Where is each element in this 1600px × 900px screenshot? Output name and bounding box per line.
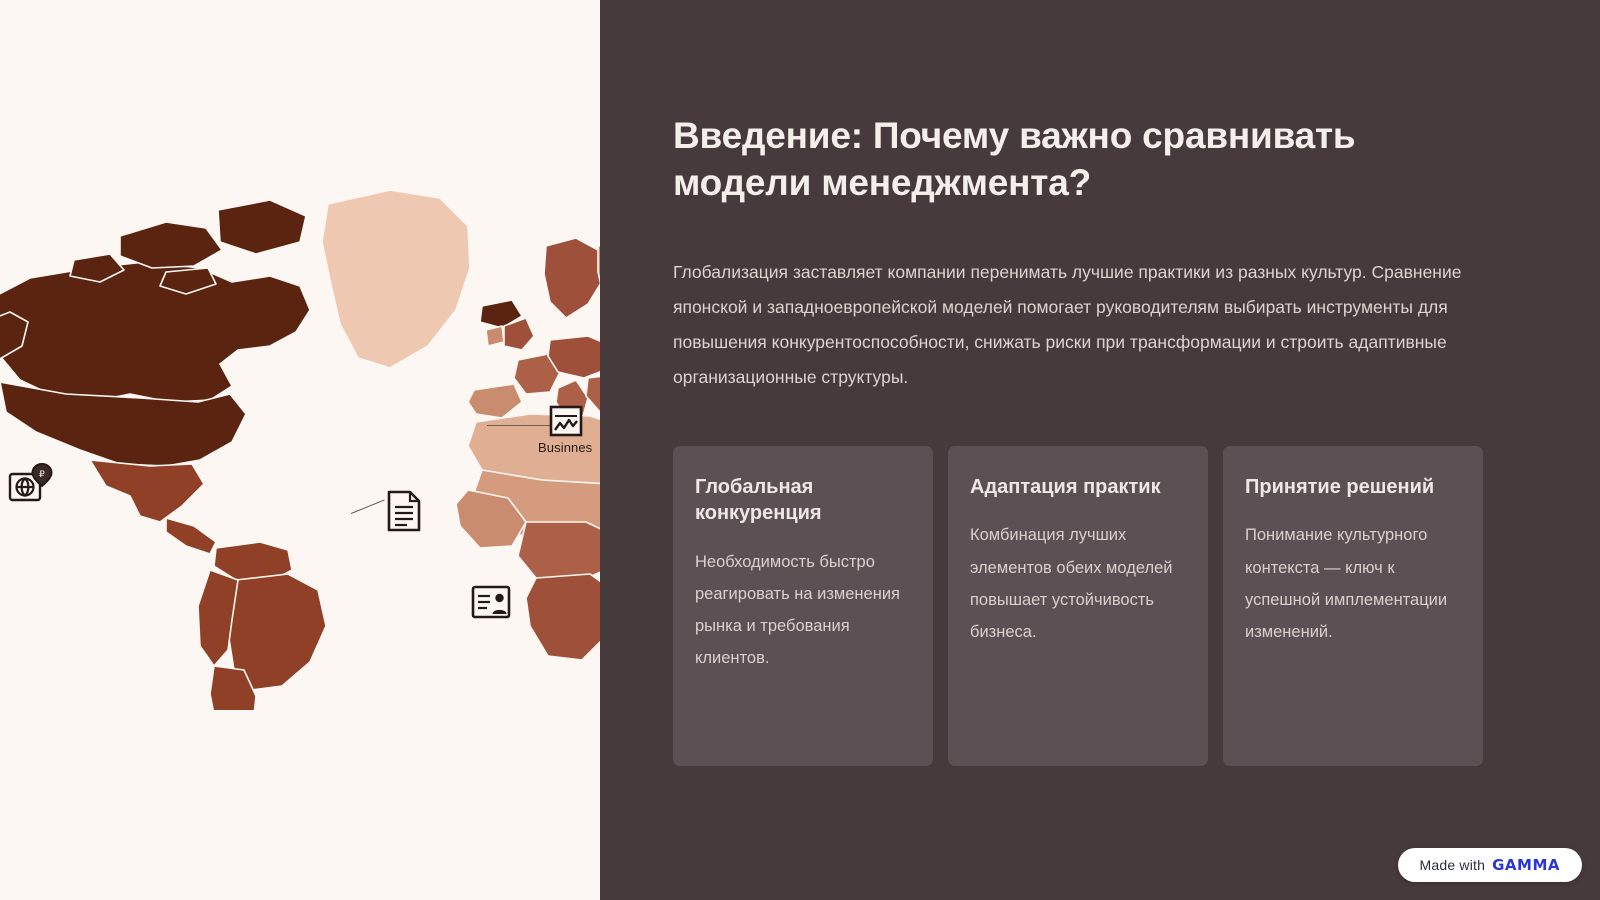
card-text: Необходимость быстро реагировать на изме… bbox=[695, 546, 911, 675]
globe-browser-icon: ₽ bbox=[8, 462, 54, 506]
id-card-icon bbox=[471, 585, 511, 619]
region-centralafrica bbox=[518, 522, 600, 582]
presentation-slide: ₽ bbox=[0, 0, 1600, 900]
feature-cards: Глобальная конкуренция Необходимость быс… bbox=[673, 446, 1483, 766]
leader-line-chart bbox=[487, 425, 551, 426]
region-mexico bbox=[90, 460, 204, 522]
region-southafrica bbox=[526, 574, 600, 660]
gamma-logo: GAMMA bbox=[1492, 856, 1560, 874]
feature-card-global-competition[interactable]: Глобальная конкуренция Необходимость быс… bbox=[673, 446, 933, 766]
feature-card-practice-adaptation[interactable]: Адаптация практик Комбинация лучших элем… bbox=[948, 446, 1208, 766]
region-centralamerica bbox=[166, 518, 216, 554]
card-title: Глобальная конкуренция bbox=[695, 474, 911, 527]
svg-text:₽: ₽ bbox=[39, 470, 45, 480]
intro-paragraph: Глобализация заставляет компании переним… bbox=[673, 255, 1491, 395]
chart-icon bbox=[549, 405, 583, 437]
region-ireland bbox=[486, 326, 504, 346]
page-title: Введение: Почему важно сравнивать модели… bbox=[673, 112, 1483, 207]
chart-annotation-label: Businnes bbox=[538, 440, 592, 455]
world-map bbox=[0, 150, 600, 710]
region-balkans bbox=[586, 374, 600, 412]
made-with-gamma-badge[interactable]: Made with GAMMA bbox=[1398, 848, 1583, 882]
card-text: Комбинация лучших элементов обеих моделе… bbox=[970, 519, 1186, 648]
region-canada bbox=[0, 262, 310, 402]
region-greenland bbox=[322, 190, 470, 368]
map-panel: ₽ bbox=[0, 0, 600, 900]
card-text: Понимание культурного контекста — ключ к… bbox=[1245, 519, 1461, 648]
feature-card-decision-making[interactable]: Принятие решений Понимание культурного к… bbox=[1223, 446, 1483, 766]
region-arctic-isl-2 bbox=[218, 200, 306, 254]
card-title: Адаптация практик bbox=[970, 474, 1186, 500]
region-scandinavia bbox=[544, 238, 600, 318]
made-with-label: Made with bbox=[1420, 857, 1486, 873]
card-title: Принятие решений bbox=[1245, 474, 1461, 500]
region-arctic-isl-1 bbox=[120, 222, 222, 268]
region-iberia bbox=[468, 384, 522, 418]
document-list-icon bbox=[386, 490, 422, 532]
content-panel: Введение: Почему важно сравнивать модели… bbox=[600, 0, 1600, 900]
